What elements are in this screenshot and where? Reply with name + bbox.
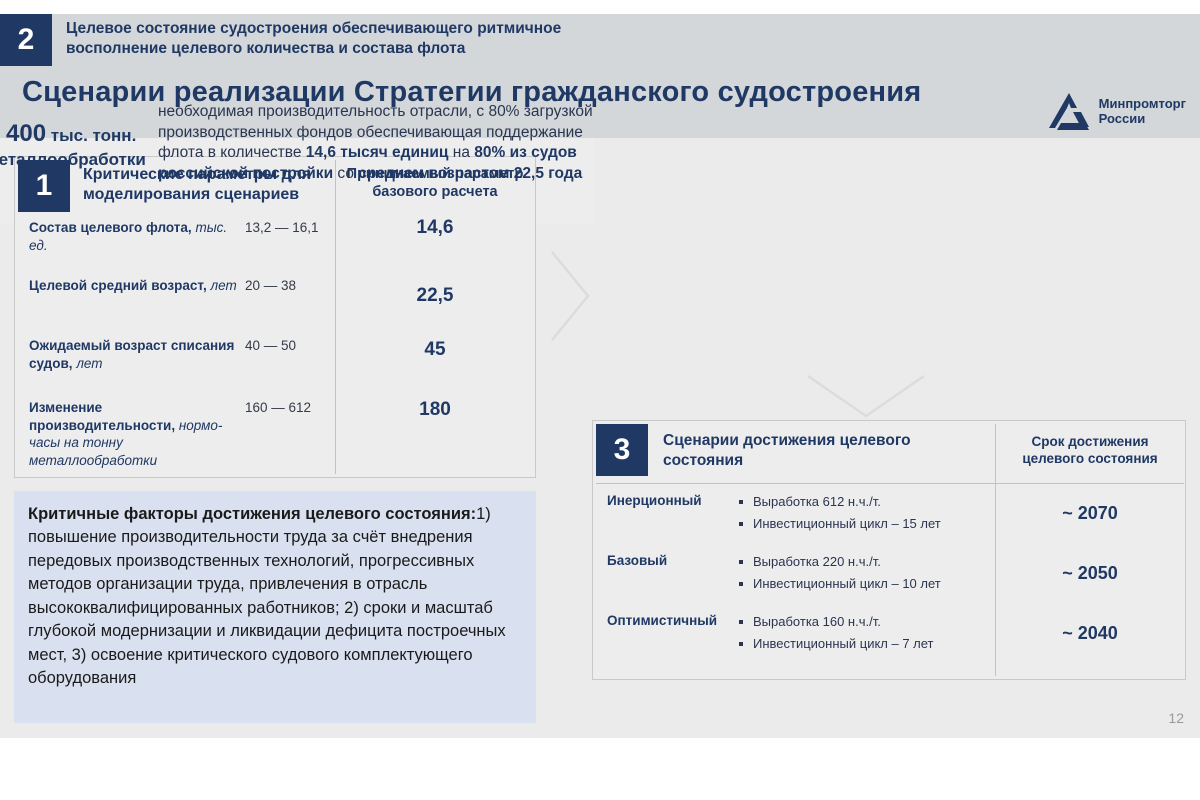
list-item: Инвестиционный цикл – 7 лет (739, 633, 989, 655)
critical-factors-body: 1) повышение производительности труда за… (28, 505, 506, 687)
panel1-row2-range: 40 — 50 (245, 337, 331, 355)
page-number: 12 (1168, 710, 1184, 726)
brand-logo-text: МинпромторгРоссии (1099, 97, 1186, 127)
panel3-row2-name: Оптимистичный (607, 613, 733, 628)
panel1-row0-value: 14,6 (337, 217, 533, 239)
panel1-row2-value: 45 (337, 339, 533, 361)
panel2-description: необходимая производительность отрасли, … (158, 102, 594, 184)
chevron-right-connector-icon (548, 250, 592, 342)
panel3-row1-term: ~ 2050 (999, 563, 1181, 584)
list-item: Выработка 220 н.ч./т. (739, 551, 989, 573)
critical-factors-lead: Критичные факторы достижения целевого со… (28, 505, 476, 523)
brand-logo-line1: Минпромторг (1099, 96, 1186, 111)
critical-factors-text: Критичные факторы достижения целевого со… (28, 503, 522, 690)
panel3-row2-term: ~ 2040 (999, 623, 1181, 644)
panel3-column-header-scenarios: Сценарии достижения целевого состояния (663, 431, 993, 470)
panel2-desc-part2: на (448, 144, 474, 161)
panel2-heading: Целевое состояние судостроения обеспечив… (66, 19, 586, 59)
brand-logo-line2: России (1099, 111, 1146, 126)
table-row: Ожидаемый возраст списания судов, лет 40… (15, 337, 535, 395)
panel-scenarios: 3 Сценарии достижения целевого состояния… (592, 420, 1186, 680)
panel1-rows: Состав целевого флота, тыс. ед. 13,2 — 1… (15, 219, 535, 483)
slide: Сценарии реализации Стратегии гражданско… (0, 14, 1200, 738)
panel1-row0-label: Состав целевого флота, тыс. ед. (29, 219, 239, 254)
table-row: Оптимистичный Выработка 160 н.ч./т. Инве… (593, 611, 1185, 671)
minpromtorg-triangle-icon (1047, 90, 1091, 134)
panel3-rows: Инерционный Выработка 612 н.ч./т. Инвест… (593, 491, 1185, 671)
panel3-row1-bullets: Выработка 220 н.ч./т. Инвестиционный цик… (739, 551, 989, 596)
table-row: Базовый Выработка 220 н.ч./т. Инвестицио… (593, 551, 1185, 611)
panel1-row3-range: 160 — 612 (245, 399, 331, 417)
table-row: Инерционный Выработка 612 н.ч./т. Инвест… (593, 491, 1185, 551)
panel3-row1-name: Базовый (607, 553, 733, 568)
panel2-number-badge: 2 (0, 14, 52, 66)
table-row: Целевой средний возраст, лет 20 — 38 22,… (15, 277, 535, 333)
panel1-row3-value: 180 (337, 399, 533, 421)
panel1-row0-range: 13,2 — 16,1 (245, 219, 331, 237)
table-row: Изменение производительности, нормо-часы… (15, 399, 535, 479)
panel-critical-parameters: 1 Критические параметры для моделировани… (14, 156, 536, 478)
chevron-down-connector-icon (806, 374, 926, 420)
panel3-number-badge: 3 (596, 424, 648, 476)
list-item: Выработка 612 н.ч./т. (739, 491, 989, 513)
panel2-desc-bold1: 14,6 тысяч единиц (306, 144, 449, 161)
list-item: Инвестиционный цикл – 15 лет (739, 513, 989, 535)
panel2-desc-part3: со (333, 165, 358, 182)
panel1-row3-label: Изменение производительности, нормо-часы… (29, 399, 239, 469)
panel3-row0-term: ~ 2070 (999, 503, 1181, 524)
panel2-metric-number: 1 400 (0, 120, 46, 147)
panel1-row1-range: 20 — 38 (245, 277, 331, 295)
panel1-row2-label: Ожидаемый возраст списания судов, лет (29, 337, 239, 372)
panel3-row0-name: Инерционный (607, 493, 733, 508)
panel2-desc-bold3: среднем возрастом 22,5 года (358, 165, 582, 182)
panel1-row1-value: 22,5 (337, 285, 533, 307)
panel3-column-header-term: Срок достижения целевого состояния (999, 433, 1181, 467)
table-row: Состав целевого флота, тыс. ед. 13,2 — 1… (15, 219, 535, 273)
panel3-row2-bullets: Выработка 160 н.ч./т. Инвестиционный цик… (739, 611, 989, 656)
list-item: Выработка 160 н.ч./т. (739, 611, 989, 633)
panel3-row0-bullets: Выработка 612 н.ч./т. Инвестиционный цик… (739, 491, 989, 536)
list-item: Инвестиционный цикл – 10 лет (739, 573, 989, 595)
critical-factors-box: Критичные факторы достижения целевого со… (14, 491, 536, 723)
panel3-header-divider (596, 483, 1184, 484)
brand-logo: МинпромторгРоссии (1047, 90, 1186, 134)
panel1-row1-label: Целевой средний возраст, лет (29, 277, 239, 295)
